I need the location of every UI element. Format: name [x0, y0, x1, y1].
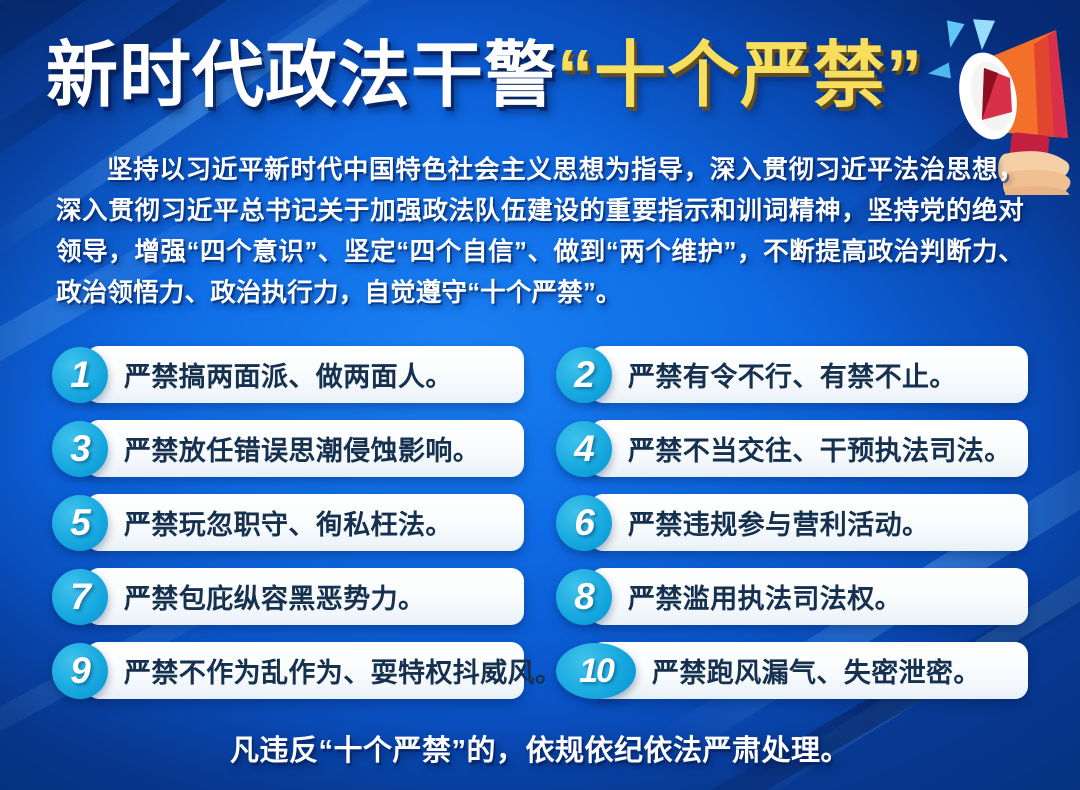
poster-title: 新时代政法干警“十个严禁”	[46, 26, 956, 126]
list-item[interactable]: 2 严禁有令不行、有禁不止。	[556, 346, 1028, 403]
item-text: 严禁跑风漏气、失密泄密。	[652, 642, 1018, 699]
item-number-badge: 9	[52, 643, 108, 699]
sound-burst-icon	[971, 19, 995, 50]
list-item[interactable]: 8 严禁滥用执法司法权。	[556, 568, 1028, 625]
item-number-badge: 1	[52, 347, 108, 403]
item-number-badge: 6	[556, 495, 612, 551]
item-number-label: 9	[52, 643, 108, 699]
item-number-badge: 10	[556, 643, 636, 699]
item-text: 严禁有令不行、有禁不止。	[628, 346, 1018, 403]
list-item[interactable]: 9 严禁不作为乱作为、耍特权抖威风。	[52, 642, 524, 699]
item-number-label: 1	[52, 347, 108, 403]
item-number-label: 5	[52, 495, 108, 551]
sound-burst-icon	[927, 63, 951, 82]
poster-root: 新时代政法干警“十个严禁”	[0, 0, 1080, 790]
item-text: 严禁不当交往、干预执法司法。	[628, 420, 1018, 477]
item-text: 严禁玩忽职守、徇私枉法。	[124, 494, 514, 551]
item-number-label: 6	[556, 495, 612, 551]
prohibitions-grid: 1 严禁搞两面派、做两面人。 2 严禁有令不行、有禁不止。 3 严禁放任错误思潮…	[52, 346, 1028, 699]
item-text: 严禁包庇纵容黑恶势力。	[124, 568, 514, 625]
item-number-badge: 5	[52, 495, 108, 551]
title-white-text: 新时代政法干警	[46, 36, 557, 116]
item-number-label: 10	[556, 643, 636, 699]
item-text: 严禁滥用执法司法权。	[628, 568, 1018, 625]
footer-note: 凡违反“十个严禁”的，依规依纪依法严肃处理。	[0, 727, 1080, 769]
list-item[interactable]: 7 严禁包庇纵容黑恶势力。	[52, 568, 524, 625]
item-number-label: 3	[52, 421, 108, 477]
list-item[interactable]: 1 严禁搞两面派、做两面人。	[52, 346, 524, 403]
list-item[interactable]: 4 严禁不当交往、干预执法司法。	[556, 420, 1028, 477]
poster-header: 新时代政法干警“十个严禁”	[0, 18, 1080, 138]
item-number-label: 2	[556, 347, 612, 403]
item-text: 严禁搞两面派、做两面人。	[124, 346, 514, 403]
item-number-badge: 2	[556, 347, 612, 403]
list-item[interactable]: 3 严禁放任错误思潮侵蚀影响。	[52, 420, 524, 477]
list-item[interactable]: 5 严禁玩忽职守、徇私枉法。	[52, 494, 524, 551]
list-item[interactable]: 6 严禁违规参与营利活动。	[556, 494, 1028, 551]
list-item[interactable]: 10 严禁跑风漏气、失密泄密。	[556, 642, 1028, 699]
item-number-badge: 4	[556, 421, 612, 477]
title-yellow-text: “十个严禁”	[557, 36, 923, 116]
item-text: 严禁违规参与营利活动。	[628, 494, 1018, 551]
item-text: 严禁放任错误思潮侵蚀影响。	[124, 420, 514, 477]
item-number-label: 8	[556, 569, 612, 625]
intro-paragraph: 坚持以习近平新时代中国特色社会主义思想为指导，深入贯彻习近平法治思想，深入贯彻习…	[56, 150, 1024, 314]
item-text: 严禁不作为乱作为、耍特权抖威风。	[124, 642, 514, 699]
item-number-label: 7	[52, 569, 108, 625]
item-number-label: 4	[556, 421, 612, 477]
item-number-badge: 3	[52, 421, 108, 477]
item-number-badge: 7	[52, 569, 108, 625]
item-number-badge: 8	[556, 569, 612, 625]
